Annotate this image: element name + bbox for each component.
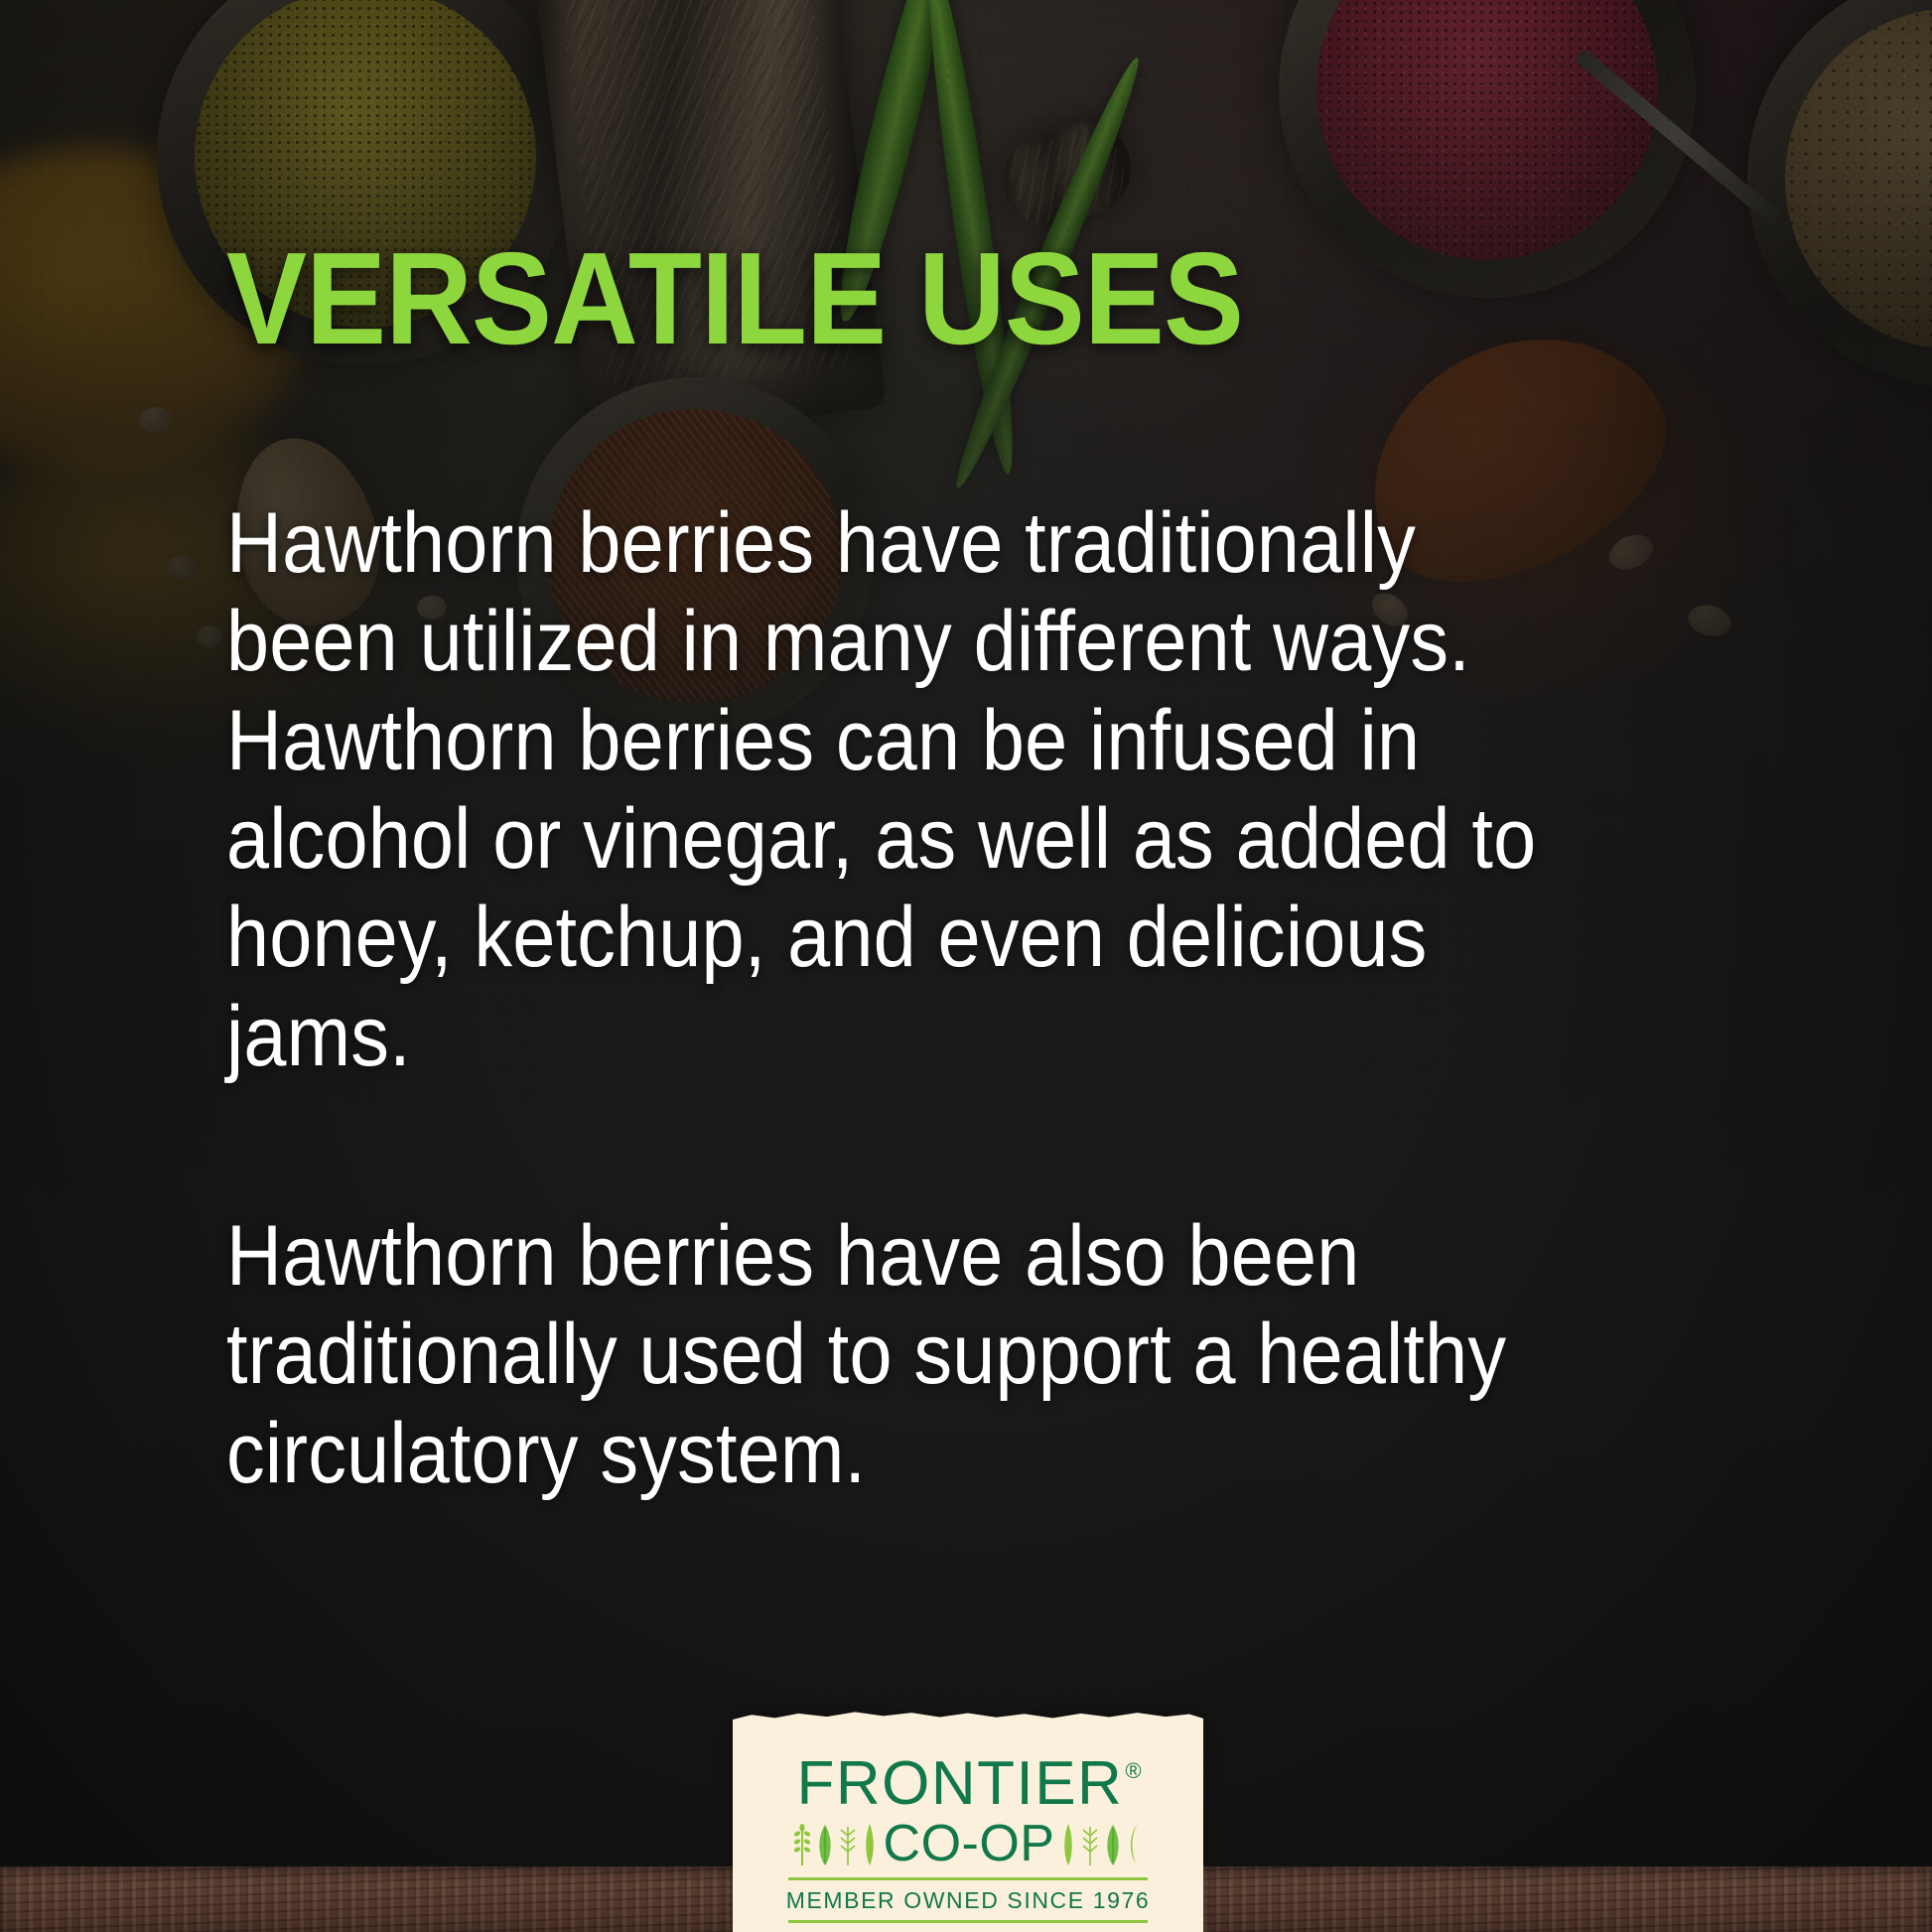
- registered-trademark-icon: ®: [1125, 1758, 1141, 1783]
- logo-sub-brand: CO-OP: [884, 1818, 1055, 1869]
- torn-paper-edge: [733, 1707, 1203, 1725]
- logo-brand-name: FRONTIER®: [796, 1755, 1139, 1814]
- fern-leaf-icon: [1081, 1822, 1099, 1865]
- blade-leaf-icon: [862, 1822, 878, 1865]
- poster-image: VERSATILE USES Hawthorn berries have tra…: [0, 0, 1932, 1932]
- wheat-sprig-icon-group-left: [793, 1822, 878, 1865]
- logo-brand-text: FRONTIER: [796, 1749, 1123, 1818]
- content-layer: VERSATILE USES Hawthorn berries have tra…: [0, 0, 1932, 1932]
- wheat-sprig-icon: [793, 1822, 811, 1865]
- fern-leaf-icon: [839, 1822, 857, 1865]
- paragraph-one: Hawthorn berries have traditionally been…: [226, 494, 1585, 1086]
- body-copy: Hawthorn berries have traditionally been…: [226, 494, 1585, 1503]
- broad-leaf-icon: [1104, 1822, 1122, 1865]
- wheat-sprig-icon-group-right: [1060, 1822, 1143, 1865]
- paragraph-two: Hawthorn berries have also been traditio…: [226, 1207, 1585, 1503]
- logo-coop-row: CO-OP: [759, 1818, 1177, 1869]
- curved-leaf-icon: [1127, 1822, 1143, 1865]
- blade-leaf-icon: [1060, 1822, 1076, 1865]
- broad-leaf-icon: [816, 1822, 834, 1865]
- page-title: VERSATILE USES: [226, 238, 1243, 358]
- frontier-coop-logo[interactable]: FRONTIER®: [733, 1720, 1203, 1932]
- logo-divider-bottom: [788, 1920, 1148, 1923]
- logo-tagline: MEMBER OWNED SINCE 1976: [759, 1880, 1177, 1920]
